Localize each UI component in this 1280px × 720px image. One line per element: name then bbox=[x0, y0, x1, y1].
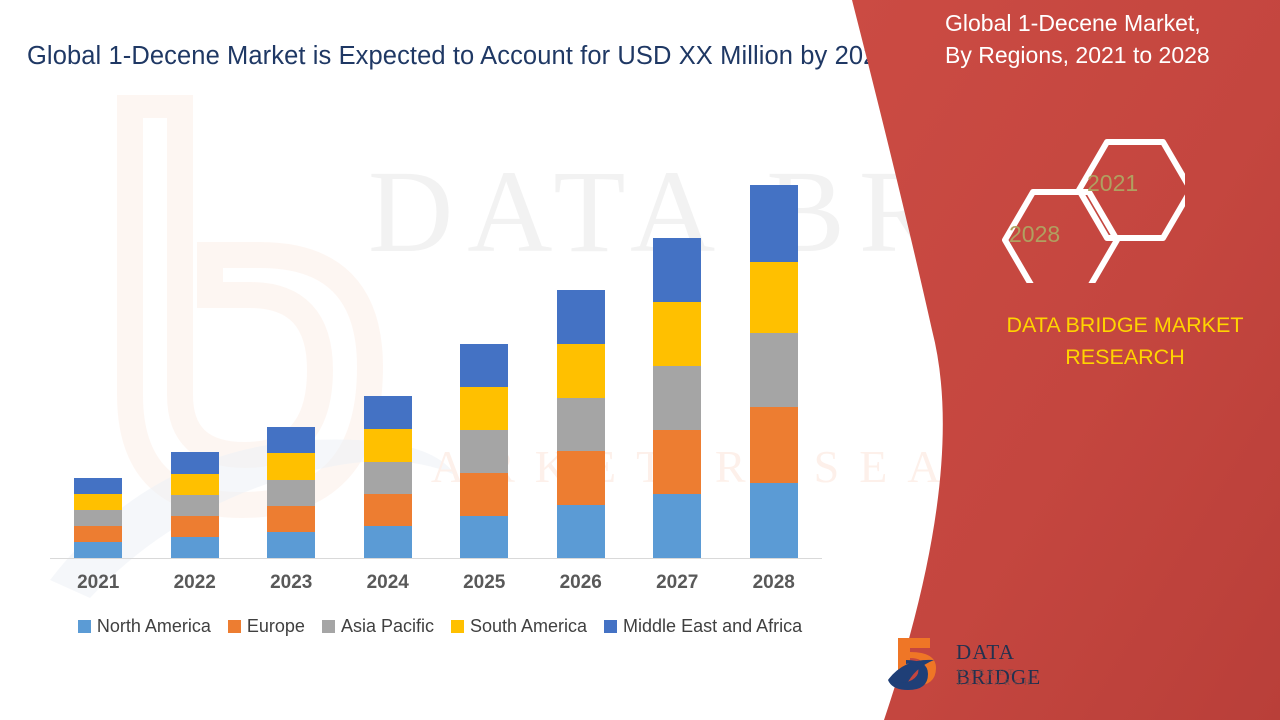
bar-segment[interactable] bbox=[364, 494, 412, 526]
stacked-bar[interactable] bbox=[267, 427, 315, 558]
bar-segment[interactable] bbox=[171, 474, 219, 495]
x-axis-tick-2028: 2028 bbox=[726, 572, 823, 600]
x-axis-tick-2023: 2023 bbox=[243, 572, 340, 600]
chart-plot-area bbox=[50, 150, 822, 558]
bar-segment[interactable] bbox=[653, 494, 701, 558]
bar-segment[interactable] bbox=[364, 526, 412, 558]
bar-segment[interactable] bbox=[364, 462, 412, 494]
page-title: Global 1-Decene Market is Expected to Ac… bbox=[27, 42, 892, 71]
x-axis-tick-2021: 2021 bbox=[50, 572, 147, 600]
hexagon-label-end: 2028 bbox=[1009, 221, 1060, 248]
stacked-bar[interactable] bbox=[364, 396, 412, 558]
legend-item[interactable]: Europe bbox=[228, 616, 305, 637]
bar-segment[interactable] bbox=[653, 430, 701, 494]
stacked-bar[interactable] bbox=[74, 478, 122, 558]
bar-segment[interactable] bbox=[653, 302, 701, 366]
legend-swatch-icon bbox=[322, 620, 335, 633]
bar-segment[interactable] bbox=[557, 451, 605, 505]
data-bridge-mark-icon bbox=[884, 634, 954, 698]
bar-group-2027 bbox=[629, 150, 726, 558]
legend-swatch-icon bbox=[78, 620, 91, 633]
legend-label: South America bbox=[470, 616, 587, 637]
hexagon-badges: 2021 2028 bbox=[985, 128, 1185, 283]
bar-segment[interactable] bbox=[750, 185, 798, 262]
legend-swatch-icon bbox=[228, 620, 241, 633]
bar-segment[interactable] bbox=[460, 516, 508, 558]
stacked-bar[interactable] bbox=[653, 238, 701, 558]
brand-name: DATA BRIDGE MARKET RESEARCH bbox=[965, 310, 1280, 374]
legend-item[interactable]: South America bbox=[451, 616, 587, 637]
stacked-bar[interactable] bbox=[460, 344, 508, 558]
bar-segment[interactable] bbox=[74, 478, 122, 494]
bar-segment[interactable] bbox=[460, 387, 508, 430]
legend-label: North America bbox=[97, 616, 211, 637]
stacked-bar[interactable] bbox=[557, 290, 605, 558]
x-axis-tick-2022: 2022 bbox=[147, 572, 244, 600]
bar-segment[interactable] bbox=[750, 407, 798, 483]
x-axis-tick-2026: 2026 bbox=[533, 572, 630, 600]
bar-group-2022 bbox=[147, 150, 244, 558]
x-axis-labels: 20212022202320242025202620272028 bbox=[50, 572, 822, 600]
brand-line2: RESEARCH bbox=[965, 342, 1280, 374]
legend-label: Middle East and Africa bbox=[623, 616, 802, 637]
hexagon-outlines-icon bbox=[985, 128, 1185, 283]
x-axis-line bbox=[50, 558, 822, 559]
x-axis-tick-2027: 2027 bbox=[629, 572, 726, 600]
bar-group-2025 bbox=[436, 150, 533, 558]
brand-line1: DATA BRIDGE MARKET bbox=[965, 310, 1280, 342]
bar-segment[interactable] bbox=[750, 333, 798, 407]
bar-segment[interactable] bbox=[171, 516, 219, 537]
bar-segment[interactable] bbox=[267, 506, 315, 532]
bar-segment[interactable] bbox=[74, 542, 122, 558]
bar-segment[interactable] bbox=[653, 366, 701, 430]
legend-swatch-icon bbox=[451, 620, 464, 633]
right-panel-title-line1: Global 1-Decene Market, bbox=[945, 8, 1275, 40]
bar-segment[interactable] bbox=[171, 495, 219, 516]
bar-segment[interactable] bbox=[364, 396, 412, 429]
hexagon-label-start: 2021 bbox=[1087, 170, 1138, 197]
bar-segment[interactable] bbox=[364, 429, 412, 462]
bar-segment[interactable] bbox=[267, 532, 315, 558]
bar-segment[interactable] bbox=[267, 453, 315, 480]
bar-segment[interactable] bbox=[171, 537, 219, 558]
bar-segment[interactable] bbox=[557, 398, 605, 451]
bar-segment[interactable] bbox=[557, 290, 605, 344]
bar-segment[interactable] bbox=[653, 238, 701, 302]
stacked-bar[interactable] bbox=[750, 185, 798, 558]
x-axis-tick-2024: 2024 bbox=[340, 572, 437, 600]
legend-item[interactable]: Asia Pacific bbox=[322, 616, 434, 637]
legend-item[interactable]: North America bbox=[78, 616, 211, 637]
bar-segment[interactable] bbox=[74, 494, 122, 510]
stacked-bar-chart bbox=[50, 150, 822, 560]
bar-segment[interactable] bbox=[460, 473, 508, 516]
bar-segment[interactable] bbox=[460, 344, 508, 387]
bar-segment[interactable] bbox=[267, 427, 315, 453]
legend-item[interactable]: Middle East and Africa bbox=[604, 616, 802, 637]
bar-segment[interactable] bbox=[74, 510, 122, 526]
bar-group-2023 bbox=[243, 150, 340, 558]
bar-segment[interactable] bbox=[557, 344, 605, 398]
bar-group-2026 bbox=[533, 150, 630, 558]
bar-segment[interactable] bbox=[750, 483, 798, 558]
bar-segment[interactable] bbox=[750, 262, 798, 333]
bar-segment[interactable] bbox=[171, 452, 219, 474]
bar-group-2028 bbox=[726, 150, 823, 558]
legend-swatch-icon bbox=[604, 620, 617, 633]
chart-legend: North AmericaEuropeAsia PacificSouth Ame… bbox=[50, 616, 830, 637]
bar-group-2024 bbox=[340, 150, 437, 558]
logo-subtitle: MARKET RESEARCH bbox=[957, 667, 1100, 687]
company-logo: DATA BRIDGE MARKET RESEARCH bbox=[884, 634, 1100, 704]
slide-canvas: DATA BRIDGE MARKET RESEARCH Global 1-Dec… bbox=[0, 0, 1280, 720]
bar-segment[interactable] bbox=[267, 480, 315, 506]
stacked-bar[interactable] bbox=[171, 452, 219, 558]
x-axis-tick-2025: 2025 bbox=[436, 572, 533, 600]
bar-segment[interactable] bbox=[460, 430, 508, 473]
right-panel-title: Global 1-Decene Market, By Regions, 2021… bbox=[945, 8, 1275, 71]
bar-segment[interactable] bbox=[74, 526, 122, 542]
legend-label: Asia Pacific bbox=[341, 616, 434, 637]
bar-segment[interactable] bbox=[557, 505, 605, 558]
legend-label: Europe bbox=[247, 616, 305, 637]
bar-group-2021 bbox=[50, 150, 147, 558]
right-panel-title-line2: By Regions, 2021 to 2028 bbox=[945, 40, 1275, 72]
